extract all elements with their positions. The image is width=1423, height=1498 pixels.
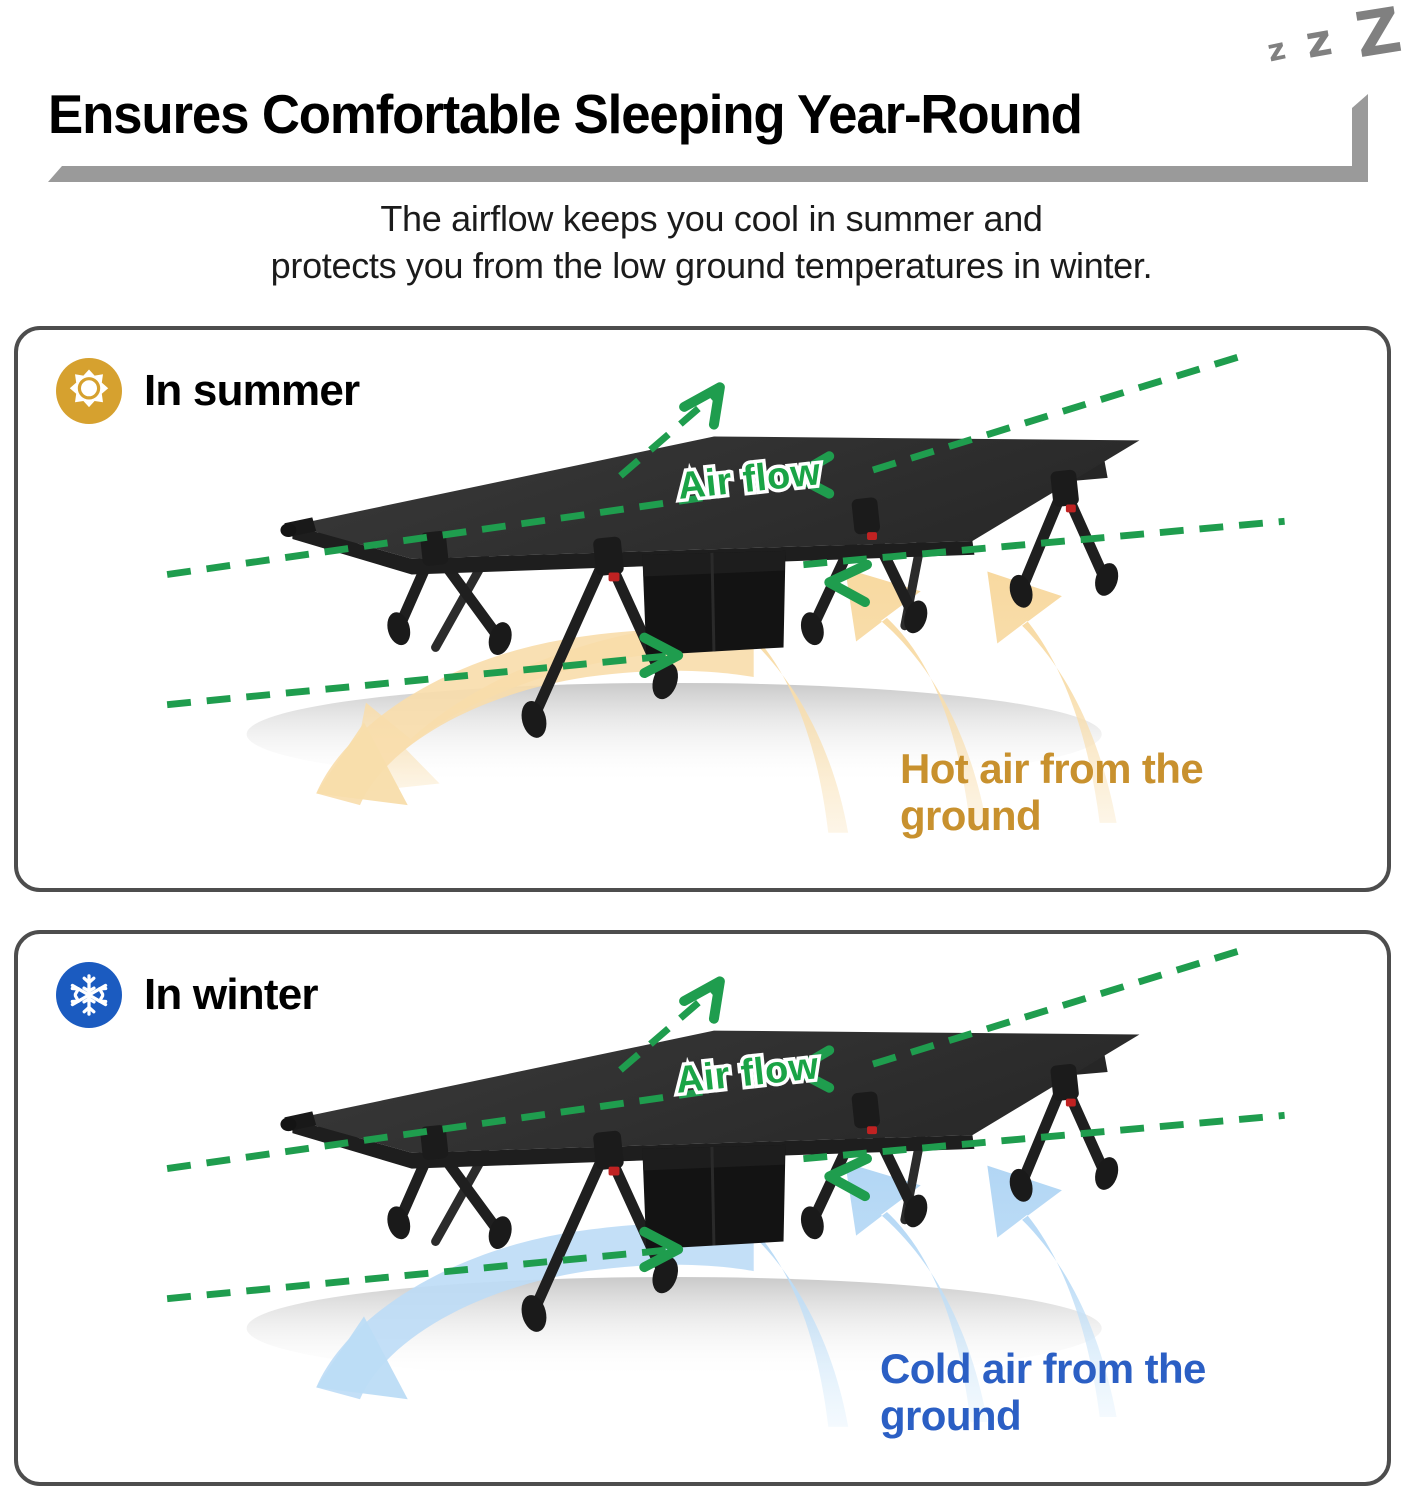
airflow-label-summer: Air flow [676,451,823,509]
title-side-bar [1352,94,1368,182]
sun-icon [56,358,122,424]
airflow-dashed-lines [167,950,1284,1299]
page-subtitle: The airflow keeps you cool in summer and… [0,196,1423,290]
svg-text:ONETIGRIS CAMPING: ONETIGRIS CAMPING [576,1446,757,1482]
panel-title-winter: In winter [144,973,318,1017]
zzz-letter-small: z [1265,35,1288,68]
caption-cold-line-1: Cold air from the [880,1345,1360,1392]
infographic-page: z z Z Ensures Comfortable Sleeping Year-… [0,0,1423,1498]
title-block: Ensures Comfortable Sleeping Year-Round [0,82,1423,192]
zzz-sleep-icon: z z Z [1268,6,1418,86]
subtitle-line-1: The airflow keeps you cool in summer and [0,196,1423,243]
svg-text:ONETIGRIS CAMPING: ONETIGRIS CAMPING [576,852,757,888]
subtitle-line-2: protects you from the low ground tempera… [0,243,1423,290]
page-title: Ensures Comfortable Sleeping Year-Round [48,82,1082,146]
panel-title-summer: In summer [144,369,359,413]
caption-hot-air: Hot air from the ground [900,745,1360,839]
airflow-label-winter: Air flow [674,1045,821,1103]
caption-cold-air: Cold air from the ground [880,1345,1360,1439]
caption-hot-line-1: Hot air from the [900,745,1360,792]
brand-logo [474,330,495,334]
zzz-letter-medium: z [1302,18,1335,66]
title-underline-bar [48,166,1368,182]
zzz-letter-large: Z [1351,0,1405,67]
summer-panel-header: In summer [56,358,359,424]
snowflake-icon [56,962,122,1028]
caption-cold-line-2: ground [880,1392,1360,1439]
winter-panel-header: In winter [56,962,318,1028]
caption-hot-line-2: ground [900,792,1360,839]
